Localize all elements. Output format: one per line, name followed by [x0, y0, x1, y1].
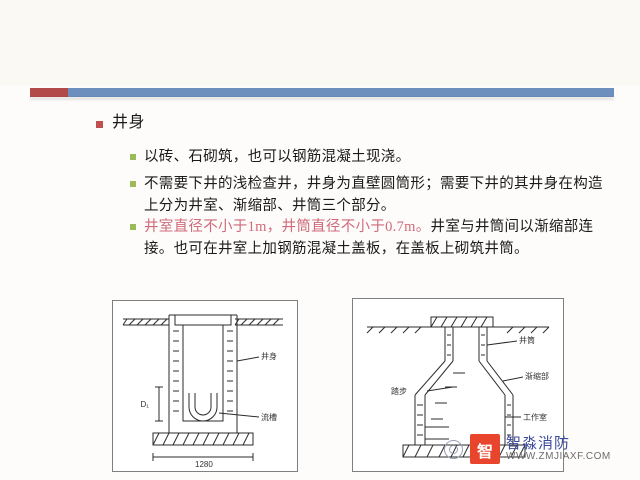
- square-bullet-icon: [130, 224, 136, 230]
- figure-right-label-tabu: 踏步: [391, 386, 407, 396]
- watermark-ring-icon: [444, 440, 463, 459]
- bullet-row-1: 以砖、石砌筑，也可以钢筋混凝土现浇。: [130, 146, 614, 168]
- slide-canvas: 井身 以砖、石砌筑，也可以钢筋混凝土现浇。 不需要下井的浅检查井，井身为直壁圆筒…: [0, 0, 640, 480]
- bullet-text-1: 以砖、石砌筑，也可以钢筋混凝土现浇。: [144, 146, 614, 168]
- divider-accent-blue: [68, 88, 614, 97]
- heading-bullet-row: 井身: [96, 113, 145, 134]
- figure-left-label-width: 1280: [195, 460, 213, 469]
- figure-right-label-jingtong: 井筒: [519, 335, 535, 345]
- bullet-text-3-emphasis: 井室直径不小于1m，井筒直径不小于0.7m。: [144, 219, 431, 235]
- square-bullet-icon: [130, 154, 136, 160]
- watermark-badge-char: 智: [470, 438, 500, 462]
- figure-left-label-liucao: 流槽: [261, 412, 277, 422]
- square-bullet-icon: [96, 121, 103, 128]
- divider-shadow: [30, 97, 614, 100]
- figure-right-label-gongzuoshi: 工作室: [523, 412, 547, 422]
- watermark-text: 智淼消防 WWW.ZMJIAXF.COM: [506, 436, 611, 462]
- figure-left-drawing: 井身 流槽 1280 D₁: [113, 301, 297, 471]
- slide-top-band: [0, 0, 640, 86]
- divider-accent-red: [30, 88, 68, 97]
- figure-left-manhole-section: 井身 流槽 1280 D₁: [112, 300, 298, 472]
- figure-left-label-jingshen: 井身: [261, 351, 277, 361]
- watermark-badge-icon: 智: [470, 434, 500, 464]
- page-title: 井身: [112, 113, 145, 134]
- bullet-row-2: 不需要下井的浅检查井，井身为直壁圆筒形；需要下井的其井身在构造上分为井室、渐缩部…: [130, 173, 614, 218]
- bullet-text-3: 井室直径不小于1m，井筒直径不小于0.7m。井室与井筒间以渐缩部连接。也可在井室…: [144, 216, 614, 261]
- bullet-text-2: 不需要下井的浅检查井，井身为直壁圆筒形；需要下井的其井身在构造上分为井室、渐缩部…: [144, 173, 614, 218]
- square-bullet-icon: [130, 181, 136, 187]
- watermark-title: 智淼消防: [506, 436, 611, 452]
- figure-right-label-jiansuobu: 渐缩部: [525, 371, 549, 381]
- watermark: 智 智淼消防 WWW.ZMJIAXF.COM: [470, 434, 611, 464]
- watermark-subtitle: WWW.ZMJIAXF.COM: [506, 452, 611, 463]
- figure-left-label-depth: D₁: [141, 400, 150, 409]
- bullet-row-3: 井室直径不小于1m，井筒直径不小于0.7m。井室与井筒间以渐缩部连接。也可在井室…: [130, 216, 614, 261]
